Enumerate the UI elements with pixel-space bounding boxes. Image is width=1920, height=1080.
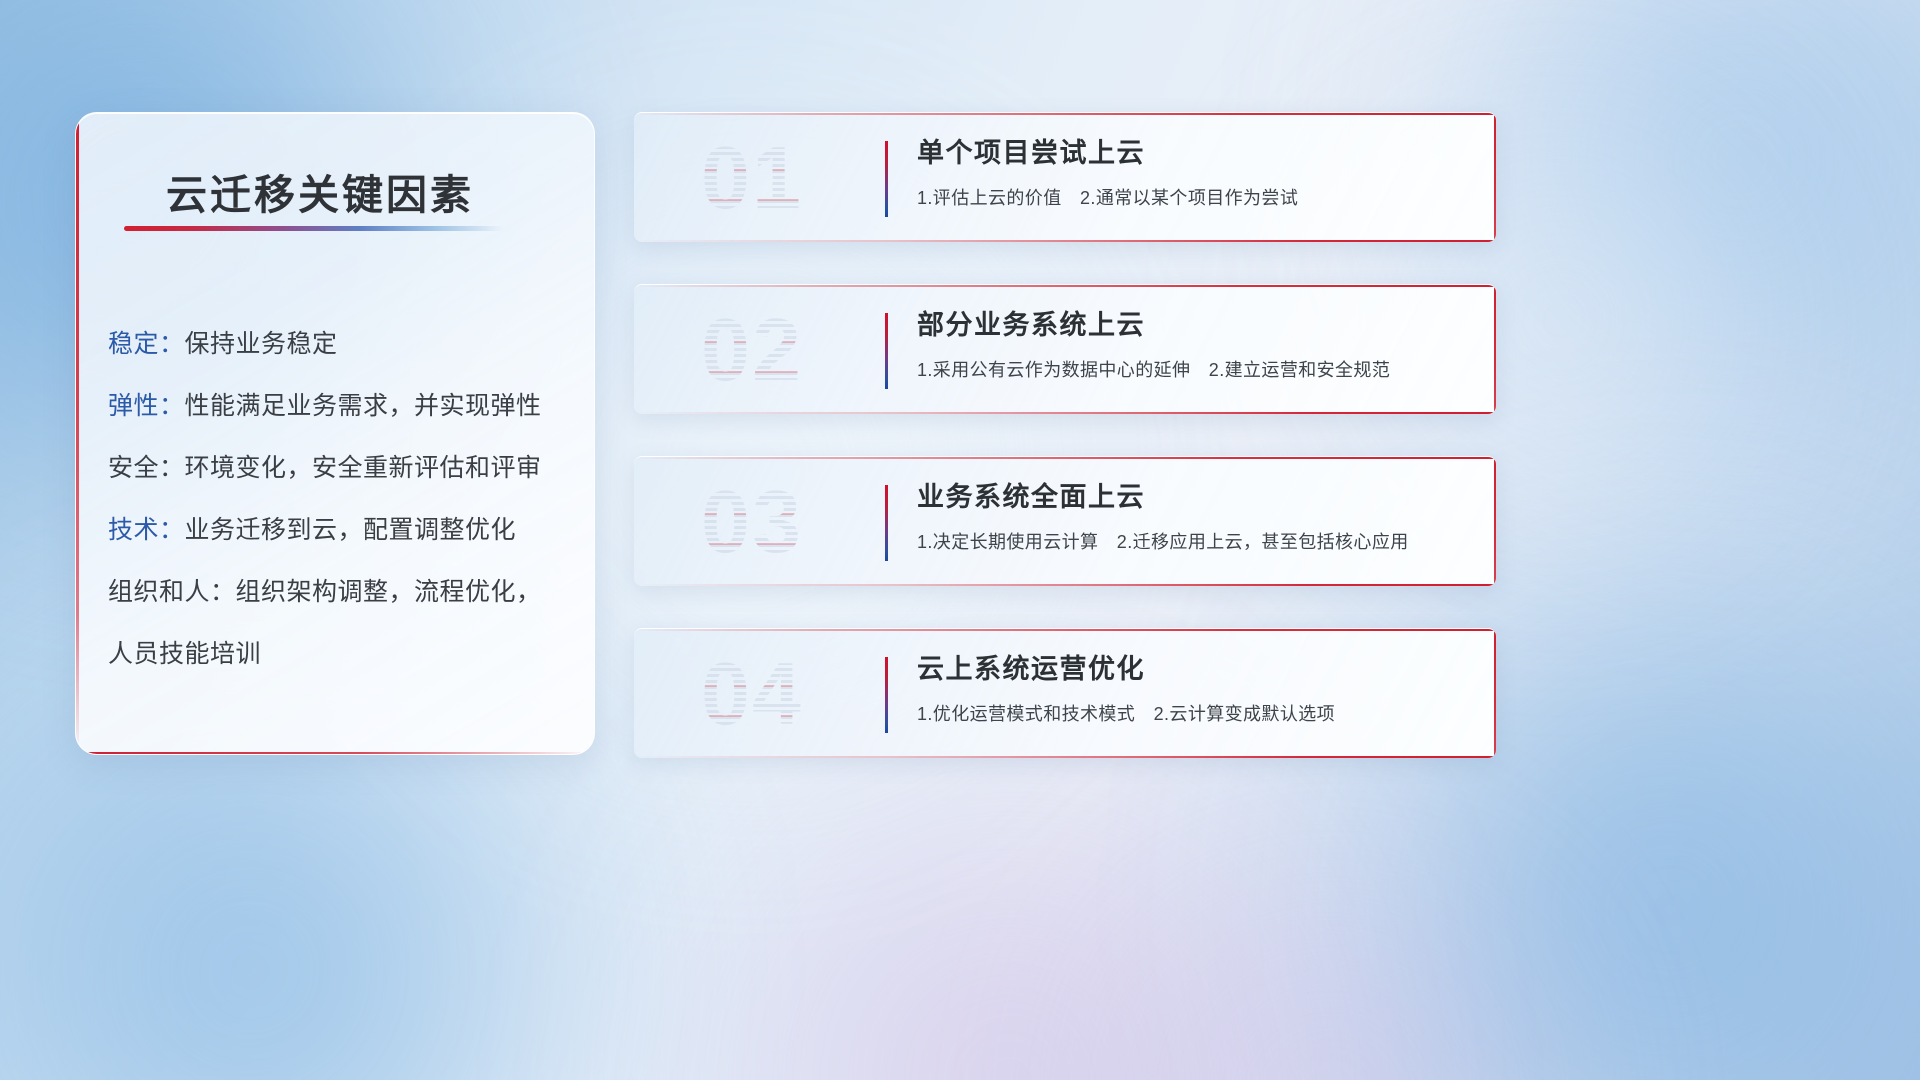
card-divider-bar — [885, 657, 888, 733]
list-item-text: 保持业务稳定 — [185, 330, 338, 358]
list-item: 安全：环境变化，安全重新评估和评审 — [108, 437, 574, 499]
stage-card[interactable]: 04 04 云上系统运营优化 1.优化运营模式和技术模式 2.云计算变成默认选项 — [634, 628, 1496, 758]
stage-cards-list: 01 01 单个项目尝试上云 1.评估上云的价值 2.通常以某个项目作为尝试 0… — [634, 112, 1496, 800]
card-description: 1.优化运营模式和技术模式 2.云计算变成默认选项 — [917, 701, 1472, 727]
card-title: 部分业务系统上云 — [917, 305, 1472, 345]
list-item-text: 环境变化，安全重新评估和评审 — [185, 454, 542, 482]
list-item: 组织和人：组织架构调整，流程优化， — [108, 561, 574, 623]
stage-number-ghost-tint: 04 — [662, 644, 842, 744]
stage-card[interactable]: 03 03 业务系统全面上云 1.决定长期使用云计算 2.迁移应用上云，甚至包括… — [634, 456, 1496, 586]
slide-stage: 云迁移关键因素 稳定：保持业务稳定 弹性：性能满足业务需求，并实现弹性 安全：环… — [0, 0, 1920, 1080]
list-item: 稳定：保持业务稳定 — [108, 313, 574, 375]
stage-card[interactable]: 02 02 部分业务系统上云 1.采用公有云作为数据中心的延伸 2.建立运营和安… — [634, 284, 1496, 414]
card-bottom-accent — [634, 412, 1496, 414]
list-item-text: 业务迁移到云，配置调整优化 — [185, 516, 517, 544]
stage-number-ghost-tint: 02 — [662, 300, 842, 400]
list-item: 技术：业务迁移到云，配置调整优化 — [108, 499, 574, 561]
list-item-label: 安全： — [108, 454, 185, 482]
list-item-label: 技术： — [108, 516, 185, 544]
card-title: 业务系统全面上云 — [917, 477, 1472, 517]
card-bottom-accent — [634, 240, 1496, 242]
card-text-block: 部分业务系统上云 1.采用公有云作为数据中心的延伸 2.建立运营和安全规范 — [917, 305, 1472, 383]
list-item-text: 组织架构调整，流程优化， — [236, 578, 542, 606]
card-bottom-accent — [634, 584, 1496, 586]
card-title: 单个项目尝试上云 — [917, 133, 1472, 173]
list-item: 人员技能培训 — [108, 623, 574, 685]
card-divider-bar — [885, 485, 888, 561]
card-title: 云上系统运营优化 — [917, 649, 1472, 689]
card-divider-bar — [885, 141, 888, 217]
stage-number-ghost-tint: 03 — [662, 472, 842, 572]
card-text-block: 云上系统运营优化 1.优化运营模式和技术模式 2.云计算变成默认选项 — [917, 649, 1472, 727]
card-divider-bar — [885, 313, 888, 389]
card-text-block: 业务系统全面上云 1.决定长期使用云计算 2.迁移应用上云，甚至包括核心应用 — [917, 477, 1472, 555]
list-item-label: 弹性： — [108, 392, 185, 420]
list-item-text: 人员技能培训 — [108, 640, 261, 668]
key-factors-list: 稳定：保持业务稳定 弹性：性能满足业务需求，并实现弹性 安全：环境变化，安全重新… — [108, 313, 574, 685]
card-description: 1.决定长期使用云计算 2.迁移应用上云，甚至包括核心应用 — [917, 529, 1472, 555]
list-item: 弹性：性能满足业务需求，并实现弹性 — [108, 375, 574, 437]
list-item-label: 组织和人： — [108, 578, 236, 606]
card-text-block: 单个项目尝试上云 1.评估上云的价值 2.通常以某个项目作为尝试 — [917, 133, 1472, 211]
list-item-text: 性能满足业务需求，并实现弹性 — [185, 392, 542, 420]
list-item-label: 稳定： — [108, 330, 185, 358]
key-factors-panel: 云迁移关键因素 稳定：保持业务稳定 弹性：性能满足业务需求，并实现弹性 安全：环… — [75, 112, 595, 755]
stage-number-ghost-tint: 01 — [662, 128, 842, 228]
card-bottom-accent — [634, 756, 1496, 758]
card-description: 1.评估上云的价值 2.通常以某个项目作为尝试 — [917, 185, 1472, 211]
panel-title-underline — [124, 226, 504, 231]
card-description: 1.采用公有云作为数据中心的延伸 2.建立运营和安全规范 — [917, 357, 1472, 383]
panel-title: 云迁移关键因素 — [166, 161, 474, 221]
stage-card[interactable]: 01 01 单个项目尝试上云 1.评估上云的价值 2.通常以某个项目作为尝试 — [634, 112, 1496, 242]
